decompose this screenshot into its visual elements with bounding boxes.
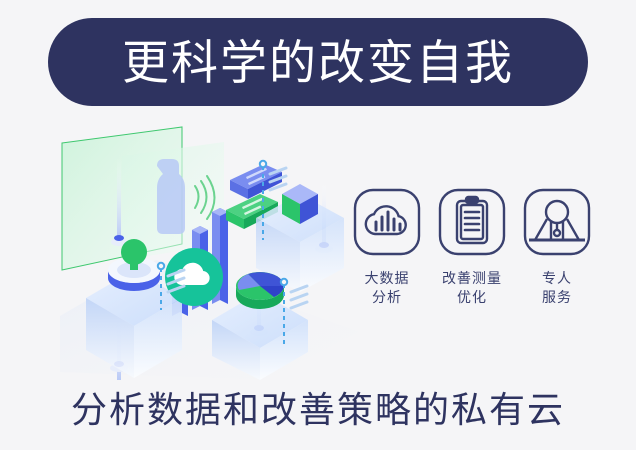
feature-item-measurement[interactable]: 改善测量 优化 xyxy=(437,188,507,328)
page-title: 更科学的改变自我 xyxy=(122,39,514,86)
cloud-badge xyxy=(165,248,223,306)
feature-label-line2: 优化 xyxy=(442,288,502,307)
feature-label-support: 专人 服务 xyxy=(542,269,572,307)
feature-item-big-data[interactable]: 大数据 分析 xyxy=(352,188,422,328)
feature-label-line1: 大数据 xyxy=(365,269,410,288)
header-pill: 更科学的改变自我 xyxy=(48,18,588,106)
feature-label-measurement: 改善测量 优化 xyxy=(442,269,502,307)
feature-label-line2: 分析 xyxy=(365,288,410,307)
feature-list: 大数据 分析 改善测量 优化 xyxy=(352,188,592,328)
tagline: 分析数据和改善策略的私有云 xyxy=(0,381,636,433)
isometric-illustration xyxy=(60,120,360,380)
feature-label-big-data: 大数据 分析 xyxy=(365,269,410,307)
feature-label-line1: 专人 xyxy=(542,269,572,288)
feature-item-support[interactable]: 专人 服务 xyxy=(522,188,592,328)
promo-banner: 更科学的改变自我 xyxy=(0,0,636,450)
pie-chart-3d xyxy=(236,272,284,309)
feature-label-line2: 服务 xyxy=(542,288,572,307)
feature-label-line1: 改善测量 xyxy=(442,269,502,288)
support-agent-icon xyxy=(523,188,591,256)
cloud-chart-icon xyxy=(353,188,421,256)
clipboard-icon xyxy=(438,188,506,256)
